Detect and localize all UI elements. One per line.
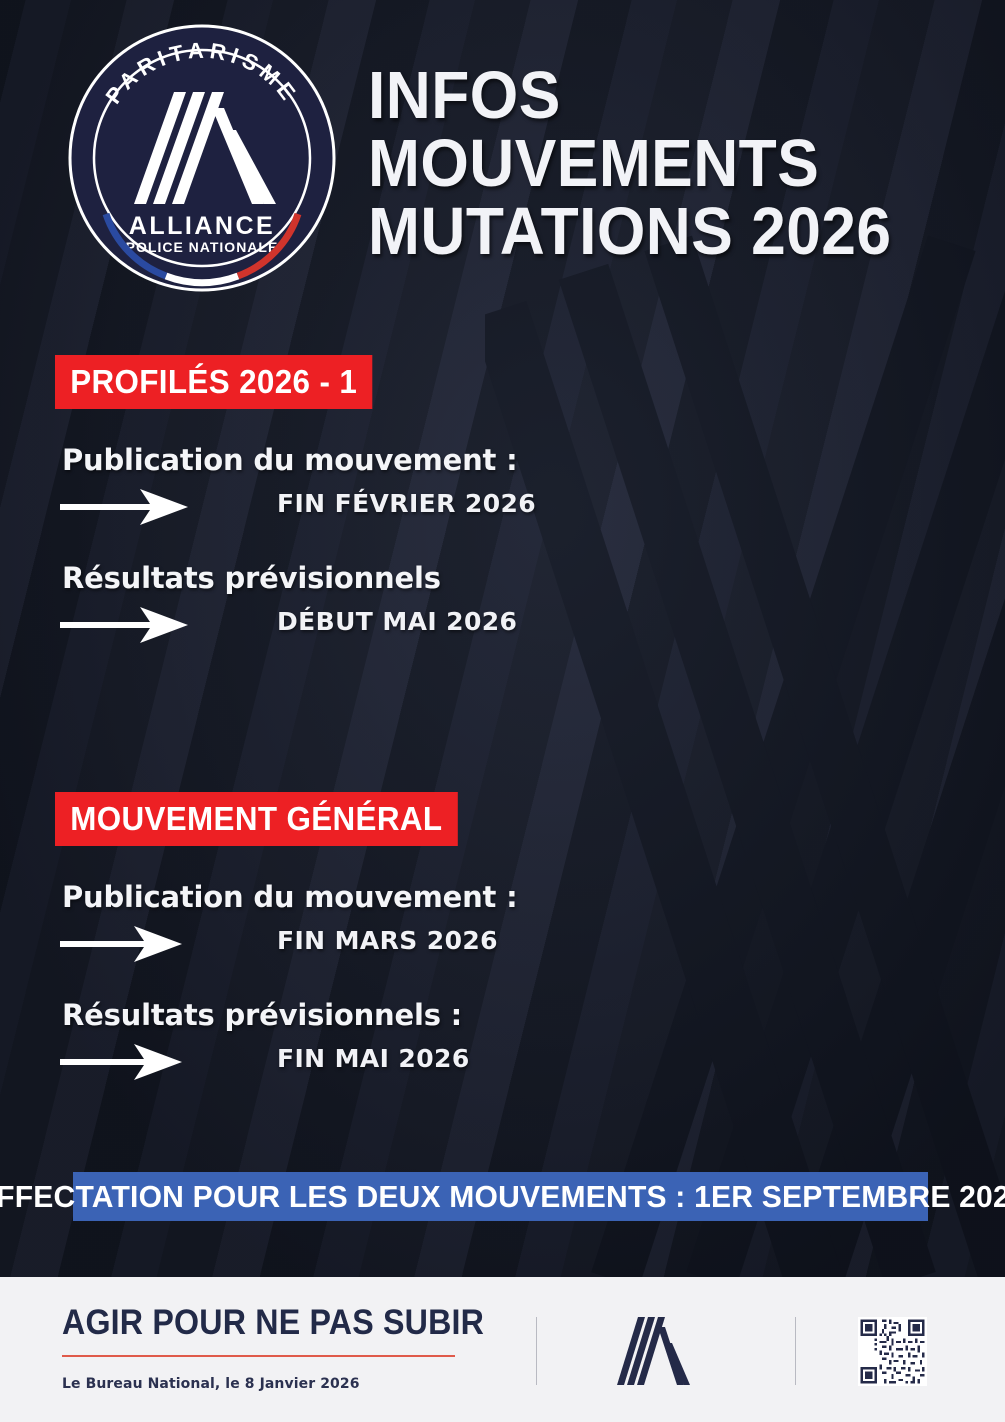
item-value-publication: FIN FÉVRIER 2026 (277, 489, 536, 518)
item-value-resultats: DÉBUT MAI 2026 (277, 607, 517, 636)
footer-slogan-underline (62, 1355, 455, 1357)
poster: PARITARISME ALLIANCE POLICE NATIONALE IN… (0, 0, 1005, 1422)
item-value-publication-general: FIN MARS 2026 (277, 926, 498, 955)
poster-title: INFOS MOUVEMENTS MUTATIONS 2026 (368, 62, 968, 266)
item-row-publication-general: FIN MARS 2026 (0, 912, 1005, 974)
item-value-resultats-general: FIN MAI 2026 (277, 1044, 470, 1073)
alliance-monogram-icon (612, 1315, 694, 1387)
title-line-3: MUTATIONS 2026 (368, 198, 926, 266)
item-label-publication: Publication du mouvement : (62, 445, 1005, 475)
section-mouvement-general: MOUVEMENT GÉNÉRAL Publication du mouveme… (0, 792, 1005, 1092)
footer-note: Le Bureau National, le 8 Janvier 2026 (62, 1376, 360, 1392)
logo-name: ALLIANCE (129, 212, 275, 240)
item-label-resultats-general: Résultats prévisionnels : (62, 1000, 1005, 1030)
affectation-banner: AFFECTATION POUR LES DEUX MOUVEMENTS : 1… (73, 1172, 928, 1221)
item-label-resultats: Résultats prévisionnels (62, 563, 1005, 593)
arrow-right-icon (60, 1040, 190, 1089)
alliance-logo: PARITARISME ALLIANCE POLICE NATIONALE (62, 18, 342, 298)
item-row-resultats: DÉBUT MAI 2026 (0, 593, 1005, 655)
poster-header: PARITARISME ALLIANCE POLICE NATIONALE IN… (0, 0, 1005, 310)
title-line-1: INFOS (368, 62, 926, 130)
footer-divider-right (795, 1317, 796, 1385)
arrow-right-icon (60, 485, 190, 534)
footer-slogan: AGIR POUR NE PAS SUBIR (62, 1305, 484, 1341)
poster-footer (0, 1277, 1005, 1422)
section-badge-profiles: PROFILÉS 2026 - 1 (55, 355, 372, 409)
affectation-banner-text: AFFECTATION POUR LES DEUX MOUVEMENTS : 1… (0, 1179, 1005, 1215)
item-row-publication: FIN FÉVRIER 2026 (0, 475, 1005, 537)
section-badge-general: MOUVEMENT GÉNÉRAL (55, 792, 458, 846)
logo-subtitle: POLICE NATIONALE (126, 239, 279, 255)
item-row-resultats-general: FIN MAI 2026 (0, 1030, 1005, 1092)
title-line-2: MOUVEMENTS (368, 130, 926, 198)
qr-code-icon[interactable] (858, 1317, 927, 1386)
section-profiles: PROFILÉS 2026 - 1 Publication du mouveme… (0, 355, 1005, 655)
footer-divider-left (536, 1317, 537, 1385)
item-label-publication-general: Publication du mouvement : (62, 882, 1005, 912)
arrow-right-icon (60, 922, 190, 971)
arrow-right-icon (60, 603, 190, 652)
